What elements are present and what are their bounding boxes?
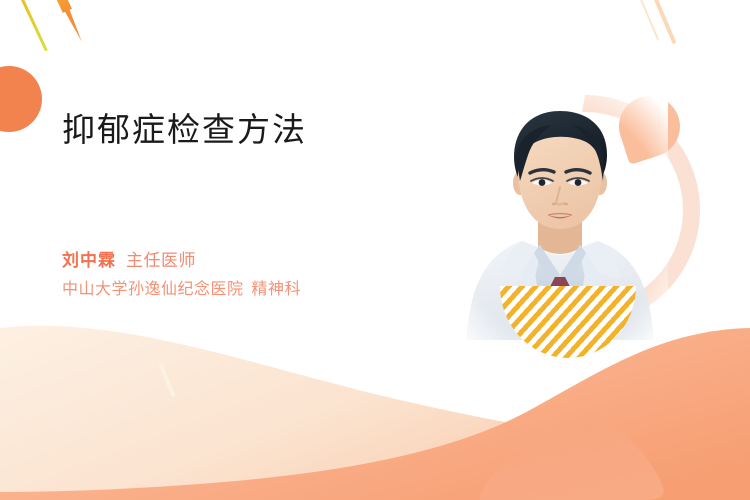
peach-stroke-decoration-b <box>637 0 659 40</box>
orange-stroke-decoration <box>48 0 86 44</box>
hospital-name: 中山大学孙逸仙纪念医院 <box>62 281 244 298</box>
peach-stroke-decoration-a <box>649 0 676 44</box>
lime-stroke-decoration <box>17 0 48 52</box>
department-name: 精神科 <box>252 281 302 298</box>
doctor-identity-line: 刘中霖主任医师 <box>62 247 462 274</box>
page-title: 抑郁症检查方法 <box>62 108 442 152</box>
doctor-name: 刘中霖 <box>62 251 116 270</box>
doctor-rank: 主任医师 <box>126 251 196 270</box>
title-block: 抑郁症检查方法 <box>62 108 442 152</box>
doctor-credit-block: 刘中霖主任医师 中山大学孙逸仙纪念医院精神科 <box>62 247 462 304</box>
orange-circle-decoration <box>0 66 42 132</box>
doctor-affiliation-line: 中山大学孙逸仙纪念医院精神科 <box>62 276 462 304</box>
promo-card: 抑郁症检查方法 刘中霖主任医师 中山大学孙逸仙纪念医院精神科 <box>0 0 750 500</box>
